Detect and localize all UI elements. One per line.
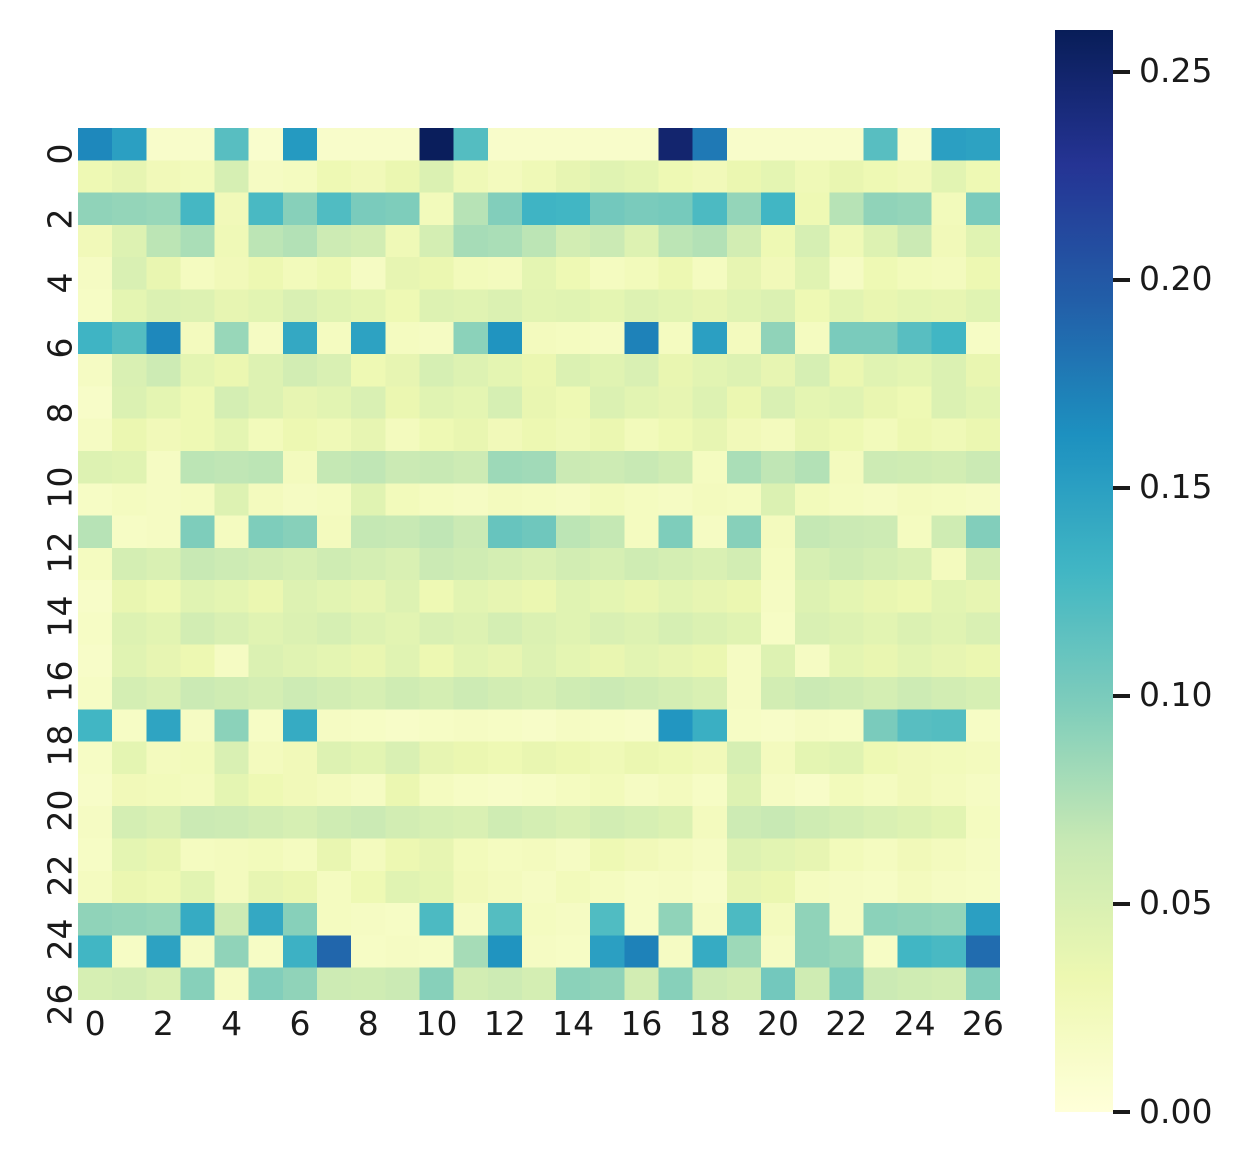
- x-tick-label: 26: [943, 1004, 1023, 1043]
- y-tick-label: 14: [41, 596, 80, 656]
- y-tick-label: 2: [41, 208, 80, 268]
- y-tick-label: 20: [41, 790, 80, 850]
- y-tick-label: 8: [41, 402, 80, 462]
- y-tick-label: 0: [41, 144, 80, 204]
- colorbar-tick-label: 0.05: [1139, 886, 1212, 919]
- y-axis-ticks: 02468101214161820222426: [0, 128, 72, 1000]
- y-tick-label: 4: [41, 273, 80, 333]
- y-tick-label: 22: [41, 854, 80, 914]
- x-axis-ticks: 02468101214161820222426: [78, 1004, 1000, 1064]
- heatmap-plot-area: [78, 128, 1000, 1000]
- y-tick-label: 12: [41, 531, 80, 591]
- y-tick-label: 6: [41, 337, 80, 397]
- y-tick-label: 10: [41, 467, 80, 527]
- colorbar-tick-label: 0.10: [1139, 678, 1212, 711]
- colorbar-tick-mark: [1113, 694, 1130, 698]
- colorbar-gradient: [1055, 30, 1113, 1112]
- colorbar-tick-label: 0.00: [1139, 1095, 1212, 1128]
- colorbar-tick-mark: [1113, 486, 1130, 490]
- y-tick-label: 18: [41, 725, 80, 785]
- colorbar-tick-mark: [1113, 902, 1130, 906]
- colorbar-tick-label: 0.25: [1139, 54, 1212, 87]
- y-tick-label: 24: [41, 919, 80, 979]
- y-tick-label: 16: [41, 660, 80, 720]
- colorbar: 0.250.200.150.100.050.00: [1055, 30, 1237, 1112]
- colorbar-tick-label: 0.20: [1139, 262, 1212, 295]
- colorbar-tick-mark: [1113, 278, 1130, 282]
- heatmap-figure: 02468101214161820222426 0246810121416182…: [0, 0, 1237, 1150]
- colorbar-tick-mark: [1113, 1110, 1130, 1114]
- colorbar-tick-mark: [1113, 70, 1130, 74]
- colorbar-tick-label: 0.15: [1139, 470, 1212, 503]
- heatmap-cells: [78, 128, 1000, 1000]
